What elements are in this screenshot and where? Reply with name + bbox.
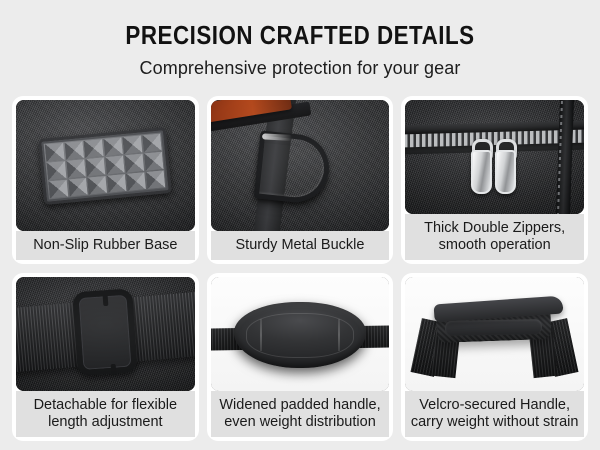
feature-image-widened-padded-handle	[211, 277, 390, 391]
page-title: PRECISION CRAFTED DETAILS	[42, 22, 558, 48]
feature-card-sturdy-metal-buckle: Sturdy Metal Buckle	[207, 96, 394, 264]
feature-image-detachable-strap	[16, 277, 195, 391]
feature-image-sturdy-metal-buckle	[211, 100, 390, 231]
feature-caption: Sturdy Metal Buckle	[211, 231, 390, 260]
feature-caption: Detachable for flexible length adjustmen…	[16, 391, 195, 437]
page-subtitle: Comprehensive protection for your gear	[0, 59, 600, 77]
feature-image-velcro-secured-handle	[405, 277, 584, 391]
photo-vignette	[16, 277, 195, 391]
feature-image-thick-double-zippers	[405, 100, 584, 214]
feature-card-grid: Non-Slip Rubber Base Sturdy Metal Buckle	[12, 96, 588, 441]
feature-card-non-slip-rubber-base: Non-Slip Rubber Base	[12, 96, 199, 264]
feature-card-thick-double-zippers: Thick Double Zippers, smooth operation	[401, 96, 588, 264]
feature-caption: Widened padded handle, even weight distr…	[211, 391, 390, 437]
handle-inner-grip	[445, 319, 542, 335]
feature-caption: Velcro-secured Handle, carry weight with…	[405, 391, 584, 437]
feature-card-velcro-secured-handle: Velcro-secured Handle, carry weight with…	[401, 273, 588, 441]
photo-vignette	[405, 100, 584, 214]
page-header: PRECISION CRAFTED DETAILS Comprehensive …	[0, 0, 600, 77]
feature-card-detachable-strap: Detachable for flexible length adjustmen…	[12, 273, 199, 441]
feature-image-non-slip-rubber-base	[16, 100, 195, 231]
product-feature-page: PRECISION CRAFTED DETAILS Comprehensive …	[0, 0, 600, 450]
photo-vignette	[16, 100, 195, 231]
feature-caption: Non-Slip Rubber Base	[16, 231, 195, 260]
feature-card-widened-padded-handle: Widened padded handle, even weight distr…	[207, 273, 394, 441]
feature-caption: Thick Double Zippers, smooth operation	[405, 214, 584, 260]
photo-vignette	[211, 100, 390, 231]
